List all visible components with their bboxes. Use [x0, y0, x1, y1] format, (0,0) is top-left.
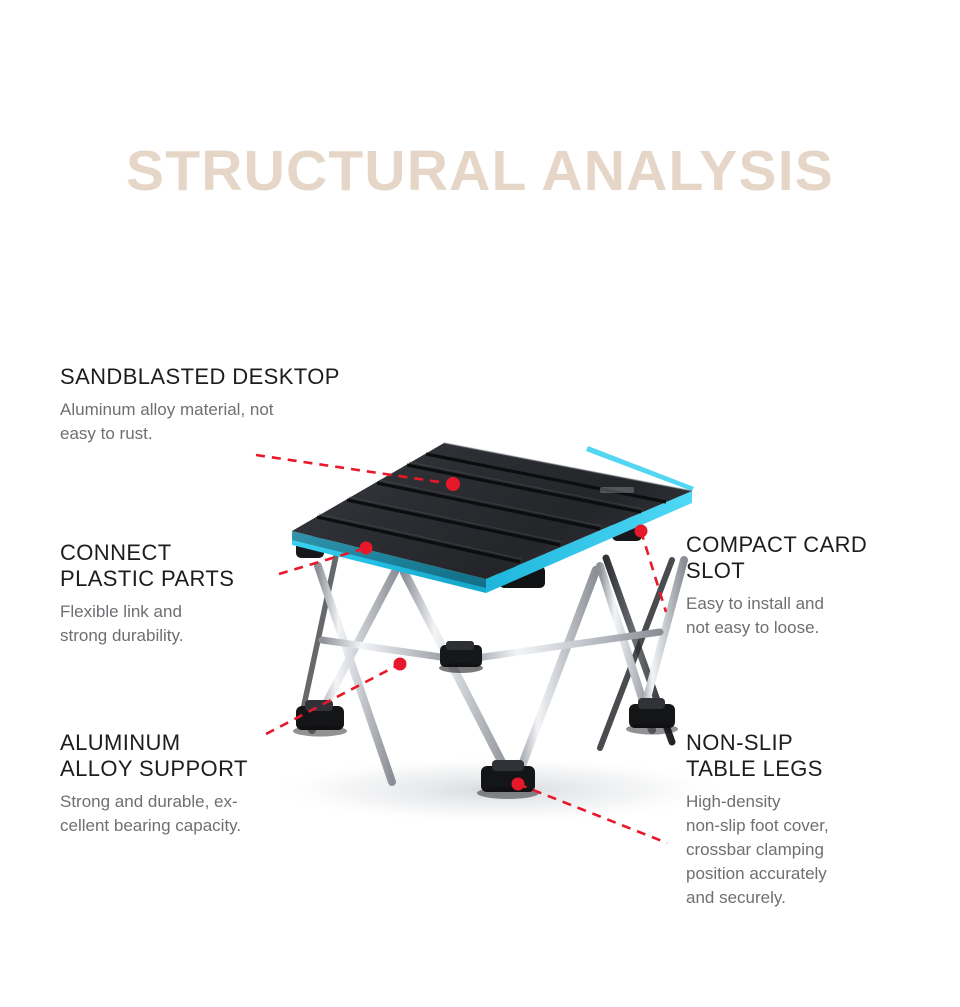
leader-line-compact-card-slot [641, 531, 666, 612]
callout-compact-card-slot: COMPACT CARD SLOT Easy to install and no… [686, 532, 936, 640]
leader-line-non-slip-table-legs [518, 784, 667, 843]
leader-line-aluminum-alloy-support [266, 664, 400, 734]
callout-body: Flexible link and strong durability. [60, 600, 360, 648]
leader-line-sandblasted-desktop [256, 455, 453, 484]
callout-body: Aluminum alloy material, not easy to rus… [60, 398, 420, 446]
callout-headline: COMPACT CARD SLOT [686, 532, 936, 584]
callout-body: High-density non-slip foot cover, crossb… [686, 790, 936, 910]
callout-sandblasted-desktop: SANDBLASTED DESKTOP Aluminum alloy mater… [60, 364, 420, 446]
leader-dot-connect-plastic-parts [360, 542, 373, 555]
callout-headline: ALUMINUM ALLOY SUPPORT [60, 730, 390, 782]
callout-headline: NON-SLIP TABLE LEGS [686, 730, 936, 782]
leader-dot-compact-card-slot [635, 525, 648, 538]
callout-connect-plastic-parts: CONNECT PLASTIC PARTS Flexible link and … [60, 540, 360, 648]
infographic-page: STRUCTURAL ANALYSIS [0, 0, 960, 1007]
leader-dot-sandblasted-desktop [446, 477, 460, 491]
leader-dot-aluminum-alloy-support [394, 658, 407, 671]
callout-body: Strong and durable, ex- cellent bearing … [60, 790, 390, 838]
callout-headline: SANDBLASTED DESKTOP [60, 364, 420, 390]
callout-aluminum-alloy-support: ALUMINUM ALLOY SUPPORT Strong and durabl… [60, 730, 390, 838]
callout-headline: CONNECT PLASTIC PARTS [60, 540, 360, 592]
callout-body: Easy to install and not easy to loose. [686, 592, 936, 640]
callout-non-slip-table-legs: NON-SLIP TABLE LEGS High-density non-sli… [686, 730, 936, 910]
leader-dot-non-slip-table-legs [512, 778, 525, 791]
